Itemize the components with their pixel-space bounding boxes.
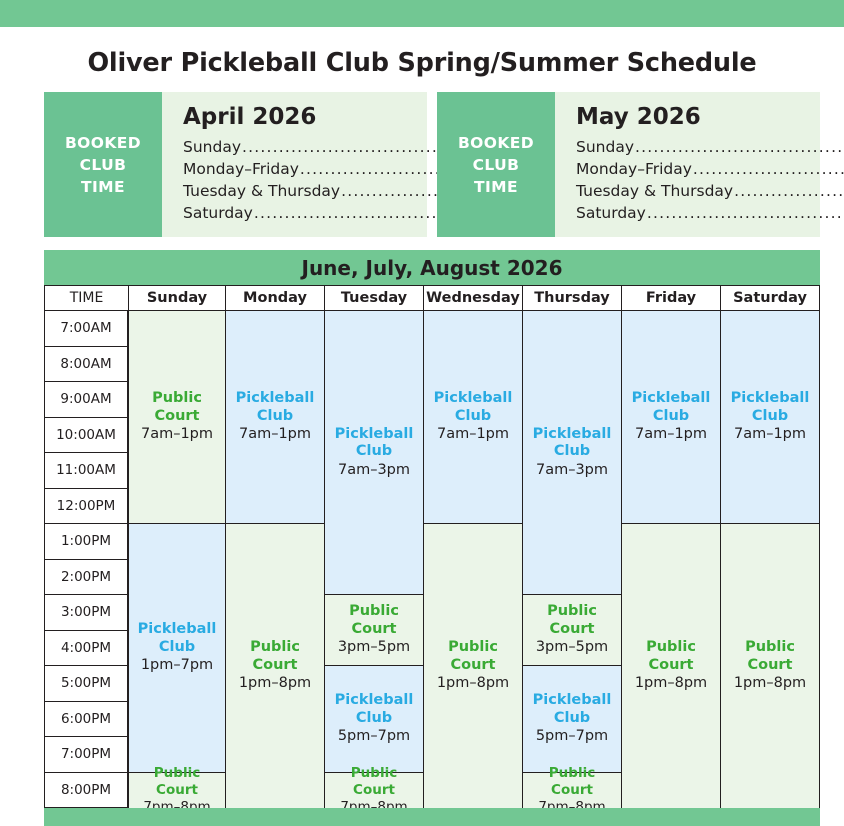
schedule-block-time: 7am–1pm [239,426,311,443]
time-slot-label: 10:00AM [44,418,128,454]
schedule-block-title: Public Court [625,639,717,674]
booked-club-time-panel-may: BOOKED CLUB TIME May 2026 Sunday .......… [437,92,820,237]
booked-club-time-tag: BOOKED CLUB TIME [437,92,555,237]
schedule-block-title: Pickleball Club [625,390,717,425]
schedule-block-public[interactable]: Public Court3pm–5pm [523,595,621,666]
top-accent-bar [0,0,844,27]
schedule-block-club[interactable]: Pickleball Club5pm–7pm [523,666,621,773]
schedule-block-title: Public Court [427,639,519,674]
day-column-monday: Pickleball Club7am–1pmPublic Court1pm–8p… [225,311,324,808]
booked-tag-line-3: TIME [81,176,125,198]
leader-dots: ..................................... [734,180,844,202]
time-slot-label: 8:00PM [44,773,128,809]
hours-row: Saturday ...............................… [576,202,844,224]
booked-tag-line-1: BOOKED [65,132,141,154]
hours-row: Monday–Friday ..........................… [576,158,844,180]
schedule-block-title: Pickleball Club [229,390,321,425]
time-slot-label: 8:00AM [44,347,128,383]
day-column-thursday: Pickleball Club7am–3pmPublic Court3pm–5p… [522,311,621,808]
leader-dots: ..................................... [647,202,844,224]
schedule-block-public[interactable]: Public Court7pm–8pm [523,773,621,809]
column-header-monday: Monday [225,285,324,311]
schedule-header-row: TIMESundayMondayTuesdayWednesdayThursday… [44,285,820,311]
schedule-block-title: Public Court [526,765,618,797]
time-slot-label: 7:00PM [44,737,128,773]
time-slot-label: 9:00AM [44,382,128,418]
schedule-block-time: 1pm–8pm [635,675,707,692]
hours-label: Tuesday & Thursday [183,180,340,202]
booked-tag-line-3: TIME [474,176,518,198]
time-slot-label: 3:00PM [44,595,128,631]
hours-row: Tuesday & Thursday .....................… [576,180,844,202]
day-column-wednesday: Pickleball Club7am–1pmPublic Court1pm–8p… [423,311,522,808]
column-header-saturday: Saturday [720,285,820,311]
schedule-block-time: 7am–1pm [734,426,806,443]
hours-label: Monday–Friday [183,158,299,180]
schedule-block-time: 3pm–5pm [338,639,410,656]
bottom-accent-bar [44,808,820,826]
hours-row: Sunday .................................… [576,136,844,158]
summer-season-title: June, July, August 2026 [302,256,563,280]
schedule-block-time: 5pm–7pm [338,728,410,745]
schedule-block-public[interactable]: Public Court7am–1pm [129,311,225,524]
schedule-block-title: Public Court [132,765,222,797]
booked-panel-body: May 2026 Sunday ........................… [555,92,844,237]
schedule-block-title: Public Court [724,639,816,674]
day-column-friday: Pickleball Club7am–1pmPublic Court1pm–8p… [621,311,720,808]
schedule-block-time: 7am–1pm [635,426,707,443]
hours-label: Saturday [576,202,646,224]
day-columns-area: Public Court7am–1pmPickleball Club1pm–7p… [128,311,820,808]
month-heading: May 2026 [576,104,844,130]
schedule-block-public[interactable]: Public Court3pm–5pm [325,595,423,666]
schedule-block-club[interactable]: Pickleball Club7am–3pm [325,311,423,595]
schedule-block-public[interactable]: Public Court7pm–8pm [325,773,423,809]
schedule-block-title: Pickleball Club [132,621,222,656]
day-column-tuesday: Pickleball Club7am–3pmPublic Court3pm–5p… [324,311,423,808]
schedule-block-title: Public Court [328,765,420,797]
time-slot-label: 12:00PM [44,489,128,525]
schedule-block-time: 1pm–8pm [734,675,806,692]
page-title: Oliver Pickleball Club Spring/Summer Sch… [0,48,844,78]
schedule-block-public[interactable]: Public Court1pm–8pm [226,524,324,808]
schedule-block-title: Public Court [328,603,420,638]
time-slot-label: 6:00PM [44,702,128,738]
schedule-block-public[interactable]: Public Court7pm–8pm [129,773,225,809]
booked-club-time-panel-april: BOOKED CLUB TIME April 2026 Sunday .....… [44,92,427,237]
time-slot-label: 7:00AM [44,311,128,347]
schedule-block-title: Pickleball Club [724,390,816,425]
schedule-block-title: Public Court [229,639,321,674]
schedule-block-time: 1pm–8pm [437,675,509,692]
schedule-block-time: 7am–1pm [437,426,509,443]
schedule-block-club[interactable]: Pickleball Club7am–1pm [622,311,720,524]
schedule-block-title: Pickleball Club [526,692,618,727]
column-header-friday: Friday [621,285,720,311]
time-slot-label: 5:00PM [44,666,128,702]
schedule-block-club[interactable]: Pickleball Club7am–1pm [226,311,324,524]
schedule-block-public[interactable]: Public Court1pm–8pm [622,524,720,808]
time-slot-label: 11:00AM [44,453,128,489]
schedule-block-public[interactable]: Public Court1pm–8pm [721,524,819,808]
hours-label: Tuesday & Thursday [576,180,733,202]
day-column-saturday: Pickleball Club7am–1pmPublic Court1pm–8p… [720,311,820,808]
schedule-block-time: 5pm–7pm [536,728,608,745]
booked-tag-line-1: BOOKED [458,132,534,154]
column-header-wednesday: Wednesday [423,285,522,311]
summer-season-band: June, July, August 2026 [44,250,820,285]
schedule-block-time: 7am–3pm [338,462,410,479]
day-column-sunday: Public Court7am–1pmPickleball Club1pm–7p… [128,311,225,808]
time-slot-label: 1:00PM [44,524,128,560]
leader-dots: ..................................... [635,136,844,158]
schedule-block-club[interactable]: Pickleball Club7am–1pm [424,311,522,524]
schedule-block-title: Public Court [526,603,618,638]
schedule-block-time: 1pm–7pm [141,657,213,674]
column-header-thursday: Thursday [522,285,621,311]
schedule-block-title: Pickleball Club [526,426,618,461]
hours-label: Sunday [183,136,241,158]
time-slot-label: 2:00PM [44,560,128,596]
hours-list: Sunday .................................… [576,136,844,224]
hours-label: Saturday [183,202,253,224]
booked-tag-line-2: CLUB [80,154,127,176]
hours-label: Monday–Friday [576,158,692,180]
weekly-schedule-grid: TIMESundayMondayTuesdayWednesdayThursday… [44,285,820,808]
schedule-block-title: Pickleball Club [328,426,420,461]
schedule-block-time: 7am–3pm [536,462,608,479]
column-header-sunday: Sunday [128,285,225,311]
time-slot-label: 4:00PM [44,631,128,667]
schedule-block-club[interactable]: Pickleball Club7am–1pm [721,311,819,524]
booked-tag-line-2: CLUB [473,154,520,176]
schedule-block-public[interactable]: Public Court1pm–8pm [424,524,522,808]
time-column: 7:00AM8:00AM9:00AM10:00AM11:00AM12:00PM1… [44,311,128,808]
schedule-block-title: Pickleball Club [328,692,420,727]
column-header-time: TIME [44,285,128,311]
hours-label: Sunday [576,136,634,158]
schedule-block-time: 7am–1pm [141,426,213,443]
schedule-block-time: 3pm–5pm [536,639,608,656]
schedule-block-title: Public Court [132,390,222,425]
leader-dots: ..................................... [693,158,844,180]
booked-club-time-tag: BOOKED CLUB TIME [44,92,162,237]
column-header-tuesday: Tuesday [324,285,423,311]
schedule-block-club[interactable]: Pickleball Club5pm–7pm [325,666,423,773]
schedule-block-title: Pickleball Club [427,390,519,425]
schedule-block-time: 1pm–8pm [239,675,311,692]
schedule-block-club[interactable]: Pickleball Club7am–3pm [523,311,621,595]
schedule-block-club[interactable]: Pickleball Club1pm–7pm [129,524,225,773]
